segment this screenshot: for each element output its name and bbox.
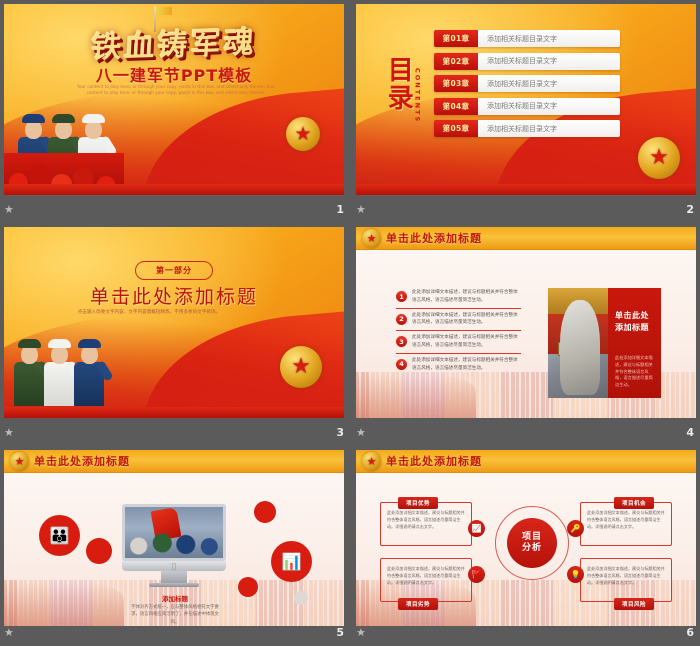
lion-statue: [560, 300, 600, 395]
list-item[interactable]: 1 此处添加详细文本描述，建议与标题相关并符合整体语言风格，语言描述尽量简洁生动…: [396, 286, 521, 308]
quadrant-text: 此处添加详细文本描述，建议与标题相关并符合整体语言风格，语言描述尽量简洁生动。详…: [387, 566, 465, 586]
slide-cell-3: 第一部分 单击此处添加标题 点击输入简要文字内容，文字内容需概括精炼，不用多余的…: [0, 223, 350, 446]
toc-heading: 目录 CONTENTS: [384, 56, 421, 123]
hub-center-label[interactable]: 项目 分析: [507, 518, 557, 568]
toc-chapter-label: 第01章: [434, 30, 478, 47]
quadrant-text: 此处添加详细文本描述，建议与标题相关并符合整体语言风格，语言描述尽量简洁生动。详…: [387, 510, 465, 530]
slide-cell-2: 目录 CONTENTS 第01章 添加相关标题目录文字 第02章 添加相关标题目…: [350, 0, 700, 223]
toc-row[interactable]: 第04章 添加相关标题目录文字: [434, 98, 620, 115]
list-item-number: 3: [396, 336, 407, 347]
monitor-stand: [161, 571, 187, 583]
quadrant-label-advantages[interactable]: 项目优势: [398, 497, 438, 509]
slide-6-header-title[interactable]: 单击此处添加标题: [386, 453, 482, 469]
favorite-star-icon[interactable]: ★: [356, 427, 364, 438]
slide-1-body-text: Your content to play here, or through yo…: [76, 84, 276, 97]
toc-row-text: 添加相关标题目录文字: [478, 53, 620, 70]
slide-3-body-text: 点击输入简要文字内容，文字内容需概括精炼，不用多余的文字修饰。: [64, 309, 234, 317]
bottom-red-bar: [356, 184, 696, 195]
list-item[interactable]: 4 此处添加详细文本描述，建议与标题相关并符合整体语言风格，语言描述尽量简洁生动…: [396, 353, 521, 376]
decorative-dot-pale: [294, 591, 308, 605]
stone-lion-photo[interactable]: [548, 288, 608, 398]
toc-row[interactable]: 第05章 添加相关标题目录文字: [434, 120, 620, 137]
panel-body: 此处添加详细文本描述，建议与标题相关并符合整体语言风格，语言描述尽量简洁生动。: [615, 355, 654, 389]
flag-icon: [156, 7, 172, 15]
chart-up-icon[interactable]: 📈: [468, 520, 485, 537]
hub-line-2: 分析: [522, 543, 542, 554]
slide-6-footer: ★ 6: [356, 622, 694, 642]
slide-body: 项目 分析 此处添加详细文本描述，建议与标题相关并符合整体语言风格，语言描述尽量…: [356, 473, 696, 626]
numbered-list: 1 此处添加详细文本描述，建议与标题相关并符合整体语言风格，语言描述尽量简洁生动…: [396, 286, 521, 375]
quadrant-label-opportunities[interactable]: 项目机会: [614, 497, 654, 509]
slide-body: 👪 📊  添加标题 字体对: [4, 473, 344, 626]
list-item[interactable]: 2 此处添加详细文本描述，建议与标题相关并符合整体语言风格，语言描述尽量简洁生动…: [396, 308, 521, 331]
toc-heading-cn: 目录: [384, 56, 411, 112]
quadrant-box-risks[interactable]: 此处添加详细文本描述，建议与标题相关并符合整体语言风格，语言描述尽量简洁生动。详…: [580, 558, 672, 602]
decorative-dot: [86, 538, 112, 564]
flag-icon[interactable]: 🚩: [468, 566, 485, 583]
list-item-number: 1: [396, 291, 407, 302]
toc-chapter-label: 第04章: [434, 98, 478, 115]
star-emblem-icon: ★: [280, 346, 322, 388]
slide-3-title[interactable]: 单击此处添加标题: [4, 282, 344, 309]
page-number: 5: [336, 626, 344, 639]
slide-5-footer: ★ 5: [4, 622, 344, 642]
toc-row-text: 添加相关标题目录文字: [478, 120, 620, 137]
favorite-star-icon[interactable]: ★: [4, 204, 12, 215]
quadrant-text: 此处添加详细文本描述，建议与标题相关并符合整体语言风格，语言描述尽量简洁生动。详…: [587, 510, 665, 530]
quadrant-label-risks[interactable]: 项目风险: [614, 598, 654, 610]
slide-header-bar: ★ 单击此处添加标题: [356, 227, 696, 250]
bottom-red-bar: [4, 184, 344, 195]
star-emblem-icon: ★: [286, 117, 320, 151]
decorative-dot: [238, 577, 258, 597]
slide-5-caption-title: 添加标题: [132, 593, 218, 603]
slide-2-footer: ★ 2: [356, 199, 694, 219]
list-item-text: 此处添加详细文本描述，建议与标题相关并符合整体语言风格，语言描述尽量简洁生动。: [412, 289, 521, 305]
slide-1-footer: ★ 1: [4, 199, 344, 219]
quadrant-label-weaknesses[interactable]: 项目劣势: [398, 598, 438, 610]
honor-guard-photo: [125, 528, 223, 558]
slide-body: 1 此处添加详细文本描述，建议与标题相关并符合整体语言风格，语言描述尽量简洁生动…: [356, 250, 696, 418]
star-emblem-icon: ★: [638, 137, 680, 179]
toc-row[interactable]: 第02章 添加相关标题目录文字: [434, 53, 620, 70]
favorite-star-icon[interactable]: ★: [356, 627, 364, 638]
slide-3[interactable]: 第一部分 单击此处添加标题 点击输入简要文字内容，文字内容需概括精炼，不用多余的…: [4, 227, 344, 418]
list-item[interactable]: 3 此处添加详细文本描述，建议与标题相关并符合整体语言风格，语言描述尽量简洁生动…: [396, 330, 521, 353]
slide-1[interactable]: 铁血铸军魂 八一建军节PPT模板 Your content to play he…: [4, 4, 344, 195]
toc-row[interactable]: 第03章 添加相关标题目录文字: [434, 75, 620, 92]
toc-row-list: 第01章 添加相关标题目录文字 第02章 添加相关标题目录文字 第03章 添加相…: [434, 30, 620, 143]
slide-2[interactable]: 目录 CONTENTS 第01章 添加相关标题目录文字 第02章 添加相关标题目…: [356, 4, 696, 195]
quadrant-box-weaknesses[interactable]: 此处添加详细文本描述，建议与标题相关并符合整体语言风格，语言描述尽量简洁生动。详…: [380, 558, 472, 602]
quadrant-text: 此处添加详细文本描述，建议与标题相关并符合整体语言风格，语言描述尽量简洁生动。详…: [587, 566, 665, 586]
slide-4[interactable]: ★ 单击此处添加标题 1 此处添加详细文本描述，建议与标题相关并符合整体语言风格…: [356, 227, 696, 418]
slide-6[interactable]: ★ 单击此处添加标题 项目 分析 此处添加详细文本描述，建议与标题相关并符合整体…: [356, 450, 696, 626]
slide-header-bar: ★ 单击此处添加标题: [356, 450, 696, 473]
slide-thumbnail-grid: 铁血铸军魂 八一建军节PPT模板 Your content to play he…: [0, 0, 700, 646]
star-emblem-icon: ★: [362, 229, 381, 248]
presentation-chart-icon[interactable]: 📊: [271, 541, 312, 582]
slide-4-footer: ★ 4: [356, 422, 694, 442]
soldiers-photo: [14, 328, 124, 406]
page-number: 2: [686, 203, 694, 216]
decorative-dot: [254, 501, 276, 523]
monitor-base: [149, 583, 199, 587]
slide-cell-1: 铁血铸军魂 八一建军节PPT模板 Your content to play he…: [0, 0, 350, 223]
slide-cell-5: ★ 单击此处添加标题 👪 📊: [0, 446, 350, 646]
bottom-red-bar: [4, 407, 344, 418]
slide-4-header-title[interactable]: 单击此处添加标题: [386, 230, 482, 246]
favorite-star-icon[interactable]: ★: [4, 427, 12, 438]
toc-row-text: 添加相关标题目录文字: [478, 30, 620, 47]
apple-logo-icon: : [172, 562, 176, 570]
slide-cell-6: ★ 单击此处添加标题 项目 分析 此处添加详细文本描述，建议与标题相关并符合整体…: [350, 446, 700, 646]
slide-cell-4: ★ 单击此处添加标题 1 此处添加详细文本描述，建议与标题相关并符合整体语言风格…: [350, 223, 700, 446]
list-item-text: 此处添加详细文本描述，建议与标题相关并符合整体语言风格，语言描述尽量简洁生动。: [412, 312, 521, 328]
panel-title: 单击此处 添加标题: [615, 310, 654, 333]
slide-5-header-title[interactable]: 单击此处添加标题: [34, 453, 130, 469]
star-emblem-icon: ★: [10, 452, 29, 471]
star-emblem-icon: ★: [362, 452, 381, 471]
page-number: 6: [686, 626, 694, 639]
toc-heading-en: CONTENTS: [413, 68, 421, 123]
list-item-number: 2: [396, 314, 407, 325]
toc-chapter-label: 第05章: [434, 120, 478, 137]
slide-5[interactable]: ★ 单击此处添加标题 👪 📊: [4, 450, 344, 626]
monitor-screen: [122, 504, 226, 561]
monitor-mockup[interactable]: : [122, 504, 226, 587]
toc-chapter-label: 第03章: [434, 75, 478, 92]
section-badge: 第一部分: [135, 261, 213, 280]
page-number: 3: [336, 426, 344, 439]
favorite-star-icon[interactable]: ★: [356, 204, 364, 215]
key-icon[interactable]: 🔑: [567, 520, 584, 537]
toc-chapter-label: 第02章: [434, 53, 478, 70]
list-item-number: 4: [396, 359, 407, 370]
toc-row-text: 添加相关标题目录文字: [478, 75, 620, 92]
list-item-text: 此处添加详细文本描述，建议与标题相关并符合整体语言风格，语言描述尽量简洁生动。: [412, 357, 521, 373]
list-item-text: 此处添加详细文本描述，建议与标题相关并符合整体语言风格，语言描述尽量简洁生动。: [412, 334, 521, 350]
page-number: 1: [336, 203, 344, 216]
toc-row-text: 添加相关标题目录文字: [478, 98, 620, 115]
slide-header-bar: ★ 单击此处添加标题: [4, 450, 344, 473]
favorite-star-icon[interactable]: ★: [4, 627, 12, 638]
red-caption-panel[interactable]: 单击此处 添加标题 此处添加详细文本描述，建议与标题相关并符合整体语言风格，语言…: [608, 288, 661, 398]
bulb-icon[interactable]: 💡: [567, 566, 584, 583]
people-group-icon[interactable]: 👪: [39, 515, 80, 556]
page-number: 4: [686, 426, 694, 439]
slide-3-footer: ★ 3: [4, 422, 344, 442]
hub-line-1: 项目: [522, 532, 542, 543]
slide-1-subtitle: 八一建军节PPT模板: [4, 62, 344, 86]
toc-row[interactable]: 第01章 添加相关标题目录文字: [434, 30, 620, 47]
monitor-chin: : [122, 561, 226, 571]
